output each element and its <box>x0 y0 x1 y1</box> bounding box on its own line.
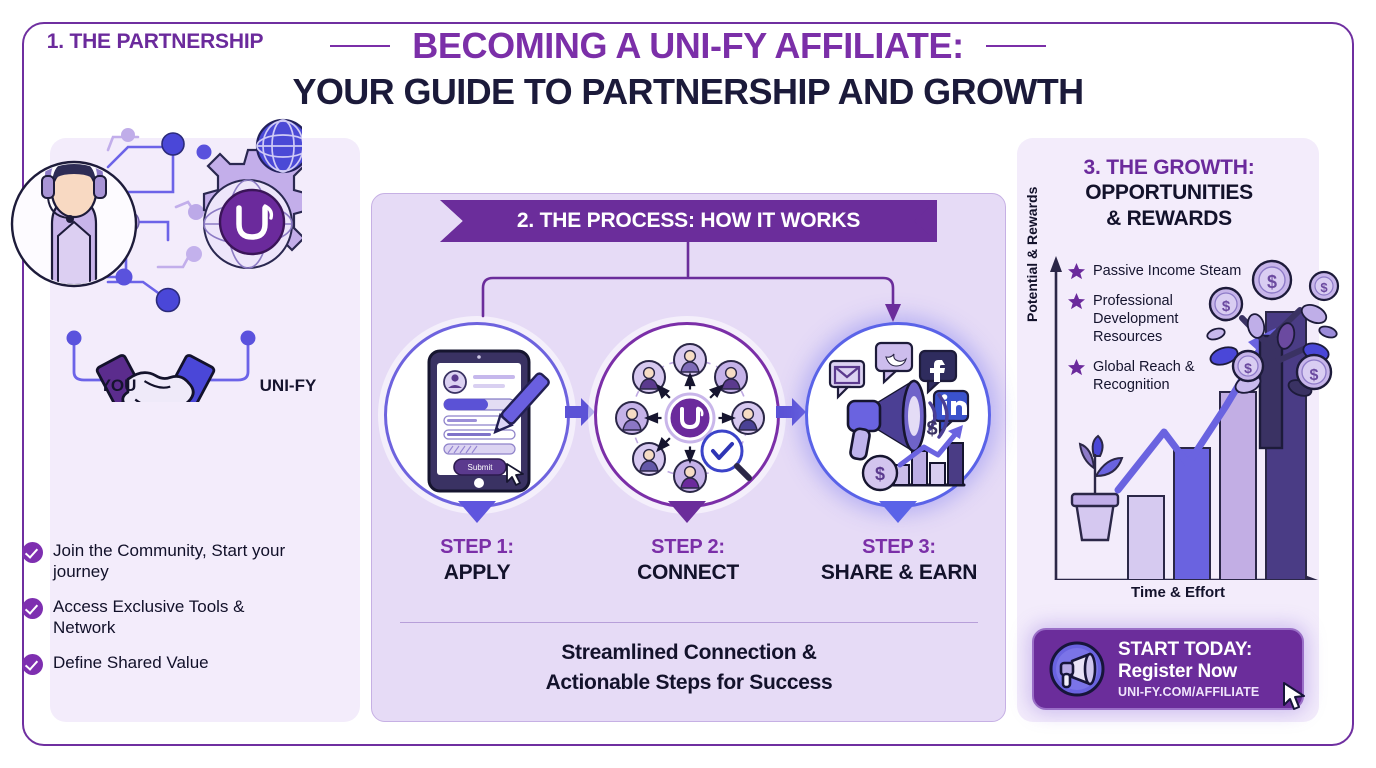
growth-heading-line-1: 3. THE GROWTH: <box>1025 156 1313 180</box>
list-item: Join the Community, Start your journey <box>22 540 302 582</box>
process-connector <box>371 240 1006 332</box>
svg-text:$: $ <box>1267 272 1277 292</box>
step-2-pointer <box>668 501 706 523</box>
network-node <box>162 133 184 155</box>
step-2-number: STEP 2: <box>588 536 788 559</box>
bullet-label: Define Shared Value <box>53 652 209 673</box>
step-3-name: SHARE & EARN <box>799 561 999 585</box>
network-node <box>188 204 204 220</box>
process-banner-label: 2. THE PROCESS: HOW IT WORKS <box>517 209 860 233</box>
twitter-icon <box>876 343 912 382</box>
unify-logo-icon <box>669 397 711 439</box>
network-node <box>121 128 135 142</box>
coin-icon: $ <box>1210 288 1242 320</box>
cta-url: UNI-FY.COM/AFFILIATE <box>1118 685 1259 699</box>
svg-text:$: $ <box>1222 298 1231 315</box>
poster-title: BECOMING A UNI-FY AFFILIATE: YOUR GUIDE … <box>0 24 1376 116</box>
label-you: YOU <box>58 376 178 396</box>
step-3[interactable]: $ $ <box>805 322 995 508</box>
magnifier-check-icon <box>702 431 749 478</box>
partnership-illustration <box>8 72 302 402</box>
arrowhead-icon <box>885 304 901 322</box>
facebook-icon <box>920 351 956 392</box>
growth-heading-line-2: OPPORTUNITIES <box>1025 180 1313 206</box>
step-1-caption: STEP 1: APPLY <box>377 536 577 585</box>
tablet-form-icon: Submit <box>387 325 573 511</box>
cta-line-2: Register Now <box>1118 661 1259 683</box>
network-node <box>197 145 212 160</box>
coin-icon: $ <box>1233 351 1263 381</box>
process-divider <box>400 622 978 623</box>
check-icon <box>22 542 43 563</box>
email-icon <box>830 361 864 397</box>
coin-icon: $ <box>1253 261 1291 299</box>
svg-text:$: $ <box>1244 360 1252 376</box>
step-1-name: APPLY <box>377 561 577 585</box>
infographic-poster: BECOMING A UNI-FY AFFILIATE: YOUR GUIDE … <box>0 0 1376 768</box>
svg-text:$: $ <box>1320 280 1328 295</box>
step-1[interactable]: Submit <box>384 322 574 508</box>
bullet-label: Access Exclusive Tools & Network <box>53 596 302 638</box>
network-node <box>67 331 82 346</box>
step-1-circle: Submit <box>384 322 570 508</box>
megaphone-icon <box>1048 640 1106 698</box>
step-3-circle: $ $ <box>805 322 991 508</box>
cursor-icon <box>1283 682 1307 712</box>
arrow-step1-step2 <box>565 398 595 426</box>
x-axis-label: Time & Effort <box>1068 584 1288 601</box>
svg-text:$: $ <box>1310 367 1319 384</box>
y-axis-label: Potential & Rewards <box>1024 122 1040 322</box>
step-1-pointer <box>458 501 496 523</box>
cta-line-1: START TODAY: <box>1118 639 1259 661</box>
globe-icon <box>257 120 302 172</box>
network-node <box>157 289 180 312</box>
growth-heading: 3. THE GROWTH: OPPORTUNITIES & REWARDS <box>1025 156 1313 232</box>
svg-text:$: $ <box>926 418 937 440</box>
step-2-caption: STEP 2: CONNECT <box>588 536 788 585</box>
cta-register-button[interactable]: START TODAY: Register Now UNI-FY.COM/AFF… <box>1032 628 1304 710</box>
process-banner: 2. THE PROCESS: HOW IT WORKS <box>440 200 937 242</box>
megaphone-social-icon: $ $ <box>808 325 994 511</box>
check-icon <box>22 654 43 675</box>
process-footer-line-1: Streamlined Connection & <box>400 638 978 668</box>
list-item: Access Exclusive Tools & Network <box>22 596 302 638</box>
unify-logo-icon <box>220 190 284 254</box>
step-3-number: STEP 3: <box>799 536 999 559</box>
step-2-circle <box>594 322 780 508</box>
network-node <box>241 331 256 346</box>
money-tree-icon: $ $ $ $ $ <box>1196 252 1346 452</box>
y-axis-arrow <box>1050 256 1062 272</box>
seedling-icon <box>1072 436 1122 540</box>
step-2-name: CONNECT <box>588 561 788 585</box>
coin-icon: $ <box>1310 272 1338 300</box>
title-line-2: YOUR GUIDE TO PARTNERSHIP AND GROWTH <box>0 68 1376 116</box>
partnership-bullets: Join the Community, Start your journey A… <box>22 540 302 689</box>
cta-text-block: START TODAY: Register Now UNI-FY.COM/AFF… <box>1118 639 1259 699</box>
growth-heading-line-3: & REWARDS <box>1025 206 1313 232</box>
label-unify: UNI-FY <box>228 376 348 396</box>
person-avatar-icon <box>12 150 136 286</box>
arrow-step2-step3 <box>776 398 806 426</box>
process-footer-line-2: Actionable Steps for Success <box>400 668 978 698</box>
step-3-caption: STEP 3: SHARE & EARN <box>799 536 999 585</box>
coin-icon: $ <box>1297 355 1331 389</box>
network-node <box>116 269 133 286</box>
chart-bar <box>1128 496 1164 580</box>
step-1-number: STEP 1: <box>377 536 577 559</box>
check-icon <box>22 598 43 619</box>
bullet-label: Join the Community, Start your journey <box>53 540 302 582</box>
submit-button-label: Submit <box>468 463 494 472</box>
network-hub-icon <box>597 325 783 511</box>
title-line-1: BECOMING A UNI-FY AFFILIATE: <box>390 24 985 68</box>
svg-text:$: $ <box>875 464 885 484</box>
process-footer: Streamlined Connection & Actionable Step… <box>400 638 978 698</box>
step-2[interactable] <box>594 322 784 508</box>
list-item: Define Shared Value <box>22 652 302 675</box>
network-node <box>186 246 202 262</box>
chart-bar <box>1174 448 1210 580</box>
step-3-pointer <box>879 501 917 523</box>
